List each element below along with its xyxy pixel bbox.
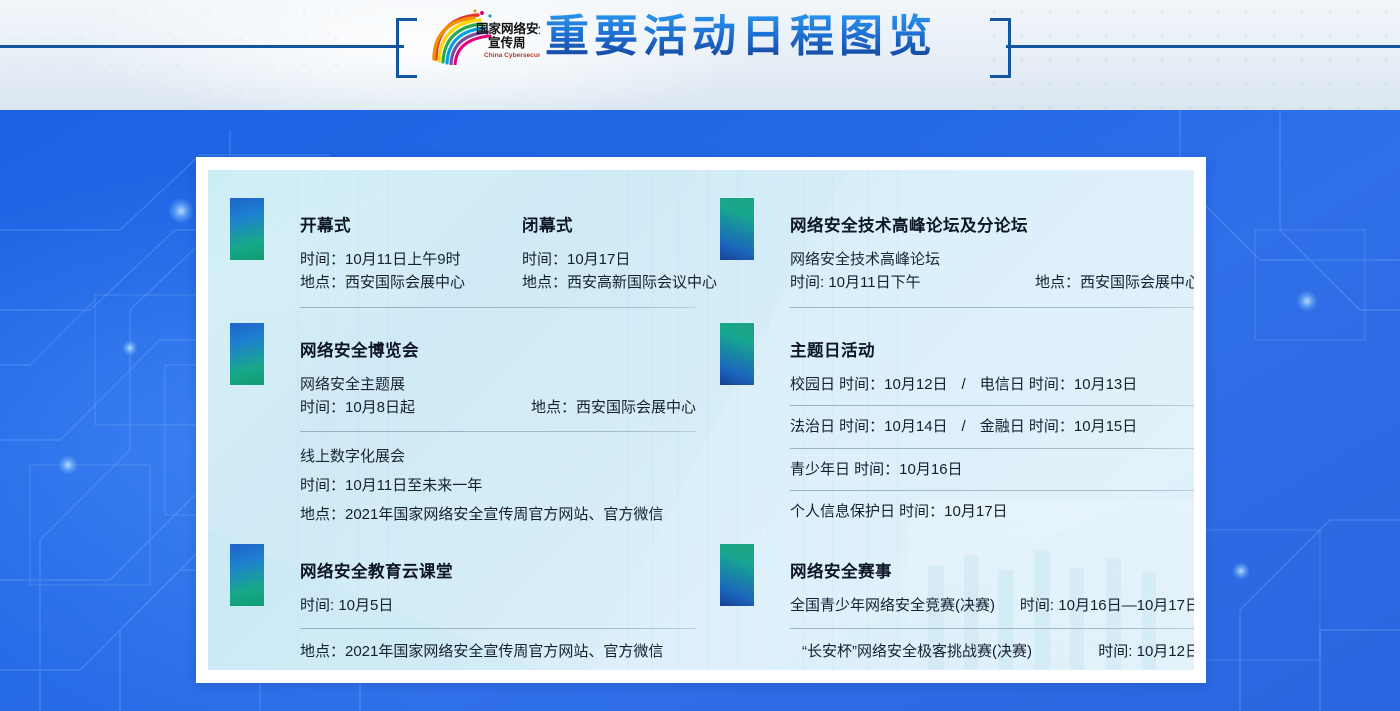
logo-line2: 宣传周 (488, 35, 526, 50)
section-4-row-1: 法治日 时间：10月14日 / 金融日 时间：10月15日 (790, 415, 1194, 438)
section-3-block0-row: 时间：10月8日起 地点：西安国际会展中心 (300, 396, 696, 419)
section-3-title: 网络安全博览会 (300, 337, 720, 361)
section-3-block1-place: 地点：2021年国家网络安全宣传周官方网站、官方微信 (300, 503, 720, 526)
section-1-columns: 开幕式 时间：10月11日上午9时 地点：西安国际会展中心 闭幕式 时间：10月… (300, 212, 717, 295)
section-4-divider-1 (790, 448, 1194, 449)
bracket-right-icon (990, 18, 1011, 78)
section-3-block1-subtitle: 线上数字化展会 (300, 445, 720, 468)
section-4-row0-left: 校园日 时间：10月12日 (790, 373, 948, 396)
section-5-title: 网络安全教育云课堂 (300, 558, 720, 582)
page-header: 国家网络安全 宣传周 China Cybersecurity Week 重要活动… (0, 0, 1400, 110)
header-rule-left (0, 45, 404, 48)
section-2-time: 时间: 10月11日下午 (790, 271, 921, 294)
section-6-row1-time: 时间: 10月12日 (1098, 640, 1194, 663)
logo-line3: China Cybersecurity Week (484, 52, 540, 59)
section-4-row0-right: 电信日 时间：10月13日 (980, 373, 1138, 396)
glow-dot (58, 455, 78, 475)
glow-dot (1232, 562, 1250, 580)
schedule-grid: 1 开幕式 时间：10月11日上午9时 地点：西安国际会展中心 闭幕式 时间：1… (208, 170, 1194, 670)
poster-stage: 国家网络安全 宣传周 China Cybersecurity Week 重要活动… (0, 0, 1400, 711)
section-number-4: 4 (720, 323, 754, 385)
glow-dot (122, 340, 138, 356)
section-3-block0-place: 地点：西安国际会展中心 (531, 396, 696, 419)
header-rule-right (1006, 45, 1400, 48)
section-6-row0-name: 全国青少年网络安全竞赛(决赛) (790, 594, 995, 617)
section-4-row-2: 青少年日 时间：10月16日 (790, 458, 1194, 481)
logo-line1: 国家网络安全 (476, 21, 540, 36)
section-1-col0-line-0: 时间：10月11日上午9时 (300, 248, 522, 271)
section-6-row-1: “长安杯”网络安全极客挑战赛(决赛) 时间: 10月12日 (790, 640, 1194, 663)
section-5-divider (300, 628, 696, 629)
section-3-block-0: 网络安全主题展 时间：10月8日起 地点：西安国际会展中心 (300, 373, 720, 420)
section-1-column-1: 闭幕式 时间：10月17日 地点：西安高新国际会议中心 (522, 212, 717, 295)
section-number-2: 2 (720, 198, 754, 260)
section-6-title: 网络安全赛事 (790, 558, 1194, 582)
header-dot-pattern-left (0, 0, 340, 110)
section-1-col0-line-1: 地点：西安国际会展中心 (300, 271, 522, 294)
section-2-subtitle: 网络安全技术高峰论坛 (790, 248, 1194, 271)
section-6-row0-time: 时间: 10月16日—10月17日 (1020, 594, 1194, 617)
section-1-divider (300, 307, 696, 308)
section-number-3: 3 (230, 323, 264, 385)
bracket-left-icon (396, 18, 417, 78)
section-6-row-0: 全国青少年网络安全竞赛(决赛) 时间: 10月16日—10月17日 (790, 594, 1194, 617)
section-1-col0-title: 开幕式 (300, 212, 522, 236)
section-4-divider-0 (790, 405, 1194, 406)
section-4-title: 主题日活动 (790, 337, 1194, 361)
page-title: 重要活动日程图览 (545, 8, 937, 66)
section-1-col1-line-1: 地点：西安高新国际会议中心 (522, 271, 717, 294)
section-1-col1-title: 闭幕式 (522, 212, 717, 236)
section-4-row0-sep: / (948, 373, 980, 396)
section-3-block0-time: 时间：10月8日起 (300, 396, 415, 419)
section-4-divider-2 (790, 490, 1194, 491)
section-3-block1-time: 时间：10月11日至未来一年 (300, 474, 720, 497)
section-number-1: 1 (230, 198, 264, 260)
section-2-divider (790, 307, 1194, 308)
glow-dot (168, 198, 194, 224)
section-1-col1-line-0: 时间：10月17日 (522, 248, 717, 271)
section-number-6: 6 (720, 544, 754, 606)
section-number-5: 5 (230, 544, 264, 606)
section-2-time-place-row: 时间: 10月11日下午 地点：西安国际会展中心 (790, 271, 1194, 294)
section-1-column-0: 开幕式 时间：10月11日上午9时 地点：西安国际会展中心 (300, 212, 522, 295)
section-4-row1-right: 金融日 时间：10月15日 (980, 415, 1138, 438)
section-2-place: 地点：西安国际会展中心 (1035, 271, 1194, 294)
glow-dot (1296, 290, 1318, 312)
section-5-row-0: 时间: 10月5日 (300, 594, 720, 617)
header-dot-pattern-right (980, 0, 1400, 110)
section-5-row-1: 地点：2021年国家网络安全宣传周官方网站、官方微信 (300, 640, 720, 663)
section-3-block0-subtitle: 网络安全主题展 (300, 373, 720, 396)
schedule-panel: 1 开幕式 时间：10月11日上午9时 地点：西安国际会展中心 闭幕式 时间：1… (208, 170, 1194, 670)
section-3-divider (300, 431, 696, 432)
schedule-panel-frame: 1 开幕式 时间：10月11日上午9时 地点：西安国际会展中心 闭幕式 时间：1… (196, 157, 1206, 683)
cybersecurity-week-logo: 国家网络安全 宣传周 China Cybersecurity Week (430, 9, 540, 65)
section-6-divider (790, 628, 1194, 629)
section-4-row1-left: 法治日 时间：10月14日 (790, 415, 948, 438)
section-4-row-3: 个人信息保护日 时间：10月17日 (790, 500, 1194, 523)
section-2-title: 网络安全技术高峰论坛及分论坛 (790, 212, 1194, 236)
section-6-row1-name: “长安杯”网络安全极客挑战赛(决赛) (802, 640, 1032, 663)
section-4-row1-sep: / (948, 415, 980, 438)
section-4-row3-left: 个人信息保护日 时间：10月17日 (790, 500, 1008, 523)
section-4-row2-left: 青少年日 时间：10月16日 (790, 458, 963, 481)
section-3-block-1: 线上数字化展会 时间：10月11日至未来一年 地点：2021年国家网络安全宣传周… (300, 445, 720, 527)
section-4-row-0: 校园日 时间：10月12日 / 电信日 时间：10月13日 (790, 373, 1194, 396)
